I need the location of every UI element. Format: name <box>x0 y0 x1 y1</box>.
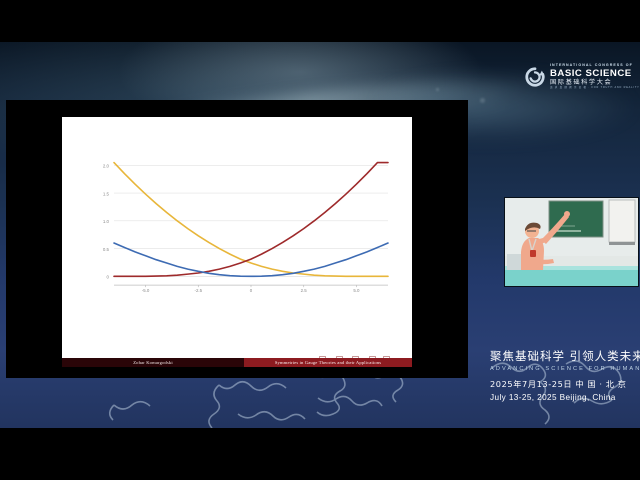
slogan-chinese: 聚焦基础科学 引领人类未来 <box>490 348 640 364</box>
speaker-camera-image <box>505 198 638 286</box>
sparkle-icon <box>436 88 439 91</box>
svg-text:1.5: 1.5 <box>103 191 110 196</box>
projection-screen: 00.51.01.52.0-5.0-2.502.55.0 ◂▸ ◂▸ ◂▸ ◂▸… <box>6 100 468 378</box>
slogan-english: ADVANCING SCIENCE FOR HUMANITY <box>490 366 640 372</box>
svg-text:5.0: 5.0 <box>353 288 360 293</box>
svg-text:-2.5: -2.5 <box>195 288 203 293</box>
plot-figure: 00.51.01.52.0-5.0-2.502.55.0 <box>84 151 394 301</box>
footline-title: Symmetries in Gauge Theories and their A… <box>244 358 412 367</box>
presentation-slide: 00.51.01.52.0-5.0-2.502.55.0 ◂▸ ◂▸ ◂▸ ◂▸… <box>62 117 412 367</box>
logo-line-tagline: 追 求 真 理 揭 示 实 相 · FOR TRUTH AND REALITY <box>550 87 640 90</box>
svg-text:2.5: 2.5 <box>301 288 308 293</box>
footline-author: Zohar Komargodski <box>62 358 244 367</box>
date-chinese: 2025年7月13-25日 中 国 · 北 京 <box>490 378 640 390</box>
svg-text:1.0: 1.0 <box>103 219 110 224</box>
conference-slogan-block: 聚焦基础科学 引领人类未来 ADVANCING SCIENCE FOR HUMA… <box>490 348 640 402</box>
icbs-circular-arrow-logo-icon <box>524 66 546 88</box>
sparkle-icon <box>480 98 485 103</box>
svg-text:-5.0: -5.0 <box>142 288 150 293</box>
beamer-footline: Zohar Komargodski Symmetries in Gauge Th… <box>62 358 412 367</box>
date-english: July 13-25, 2025 Beijing, China <box>490 393 640 402</box>
logo-line-basic-science: BASIC SCIENCE <box>550 69 640 79</box>
svg-text:2.0: 2.0 <box>103 164 110 169</box>
speaker-camera-feed <box>504 197 639 287</box>
icbs-logo: INTERNATIONAL CONGRESS OF BASIC SCIENCE … <box>524 64 640 90</box>
svg-text:0: 0 <box>250 288 253 293</box>
plot-svg: 00.51.01.52.0-5.0-2.502.55.0 <box>84 151 394 301</box>
letterbox-top <box>0 0 640 42</box>
svg-text:0: 0 <box>107 275 110 280</box>
svg-text:0.5: 0.5 <box>103 247 110 252</box>
video-frame: INTERNATIONAL CONGRESS OF BASIC SCIENCE … <box>0 0 640 480</box>
letterbox-bottom <box>0 428 640 480</box>
